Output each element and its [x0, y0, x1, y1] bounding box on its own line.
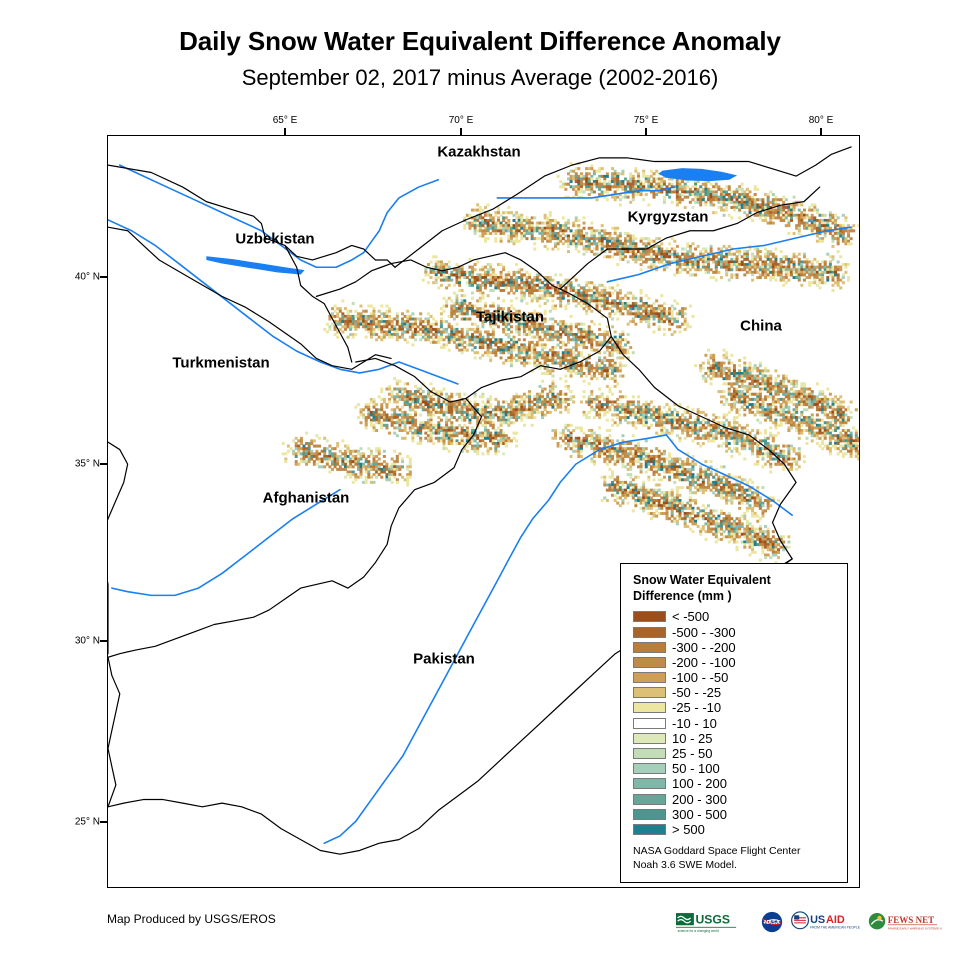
legend-credit: NASA Goddard Space Flight Center Noah 3.… [633, 844, 837, 872]
lon-tick-mark [820, 128, 822, 135]
legend-label: 50 - 100 [672, 762, 720, 775]
legend-label: 300 - 500 [672, 808, 727, 821]
legend-row: 300 - 500 [633, 807, 837, 822]
legend-row: 10 - 25 [633, 731, 837, 746]
legend-swatch [633, 657, 666, 668]
lon-tick-label: 75° E [634, 115, 659, 126]
legend-label: -100 - -50 [672, 671, 728, 684]
legend-label: -200 - -100 [672, 656, 736, 669]
footer-credit: Map Produced by USGS/EROS [107, 912, 276, 926]
lon-tick-mark [460, 128, 462, 135]
legend-label: -300 - -200 [672, 641, 736, 654]
lat-tick-label: 30° N [58, 636, 100, 647]
lon-tick-label: 65° E [273, 115, 298, 126]
lon-tick-mark [645, 128, 647, 135]
lat-tick-mark [100, 463, 107, 465]
usgs-logo[interactable]: USGS science for a changing world [676, 910, 754, 934]
legend-label: -50 - -25 [672, 686, 721, 699]
legend-row: 200 - 300 [633, 792, 837, 807]
legend-row: 100 - 200 [633, 776, 837, 791]
page-subtitle: September 02, 2017 minus Average (2002-2… [0, 56, 960, 90]
legend-row: 25 - 50 [633, 746, 837, 761]
legend-swatch [633, 809, 666, 820]
legend-row: > 500 [633, 822, 837, 837]
lat-tick-label: 25° N [58, 817, 100, 828]
country-border [285, 245, 352, 362]
page-title: Daily Snow Water Equivalent Difference A… [0, 0, 960, 56]
legend-label: -500 - -300 [672, 626, 736, 639]
river [112, 490, 340, 596]
legend-row: < -500 [633, 609, 837, 624]
legend-title: Snow Water Equivalent Difference (mm ) [633, 573, 837, 604]
country-border [108, 442, 128, 654]
legend-row: -300 - -200 [633, 640, 837, 655]
legend-swatch [633, 702, 666, 713]
legend-panel: Snow Water Equivalent Difference (mm ) <… [620, 563, 848, 883]
legend-swatch [633, 642, 666, 653]
legend-label: 100 - 200 [672, 777, 727, 790]
usaid-logo[interactable]: US AID FROM THE AMERICAN PEOPLE [790, 910, 862, 934]
lat-tick-mark [100, 640, 107, 642]
legend-class-list: < -500-500 - -300-300 - -200-200 - -100-… [633, 609, 837, 837]
country-border [108, 657, 120, 807]
legend-label: > 500 [672, 823, 705, 836]
legend-row: -50 - -25 [633, 685, 837, 700]
lat-tick-label: 35° N [58, 459, 100, 470]
fewsnet-logo[interactable]: FEWS NET FAMINE EARLY WARNING SYSTEMS NE… [868, 910, 942, 934]
lon-tick-mark [284, 128, 286, 135]
legend-swatch [633, 778, 666, 789]
title-block: Daily Snow Water Equivalent Difference A… [0, 0, 960, 90]
legend-row: -10 - 10 [633, 716, 837, 731]
lat-tick-mark [100, 821, 107, 823]
legend-row: -100 - -50 [633, 670, 837, 685]
legend-swatch [633, 748, 666, 759]
legend-label: 10 - 25 [672, 732, 712, 745]
legend-swatch [633, 611, 666, 622]
lat-tick-mark [100, 276, 107, 278]
legend-label: 25 - 50 [672, 747, 712, 760]
lon-tick-label: 70° E [449, 115, 474, 126]
country-border [108, 227, 391, 369]
legend-swatch [633, 687, 666, 698]
legend-row: -25 - -10 [633, 700, 837, 715]
legend-swatch [633, 794, 666, 805]
legend-label: 200 - 300 [672, 793, 727, 806]
legend-label: -10 - 10 [672, 717, 717, 730]
lake-aydar [206, 256, 304, 274]
legend-swatch [633, 627, 666, 638]
lon-tick-label: 80° E [809, 115, 834, 126]
legend-swatch [633, 763, 666, 774]
legend-swatch [633, 824, 666, 835]
nasa-logo[interactable]: NASA [760, 910, 784, 934]
legend-swatch [633, 718, 666, 729]
legend-label: -25 - -10 [672, 701, 721, 714]
legend-row: -200 - -100 [633, 655, 837, 670]
legend-row: -500 - -300 [633, 624, 837, 639]
lat-tick-label: 40° N [58, 272, 100, 283]
legend-row: 50 - 100 [633, 761, 837, 776]
legend-label: < -500 [672, 610, 709, 623]
legend-swatch [633, 733, 666, 744]
logo-strip: USGS science for a changing world NASA U… [676, 908, 942, 936]
swe-anomaly-layer [282, 162, 859, 564]
legend-swatch [633, 672, 666, 683]
